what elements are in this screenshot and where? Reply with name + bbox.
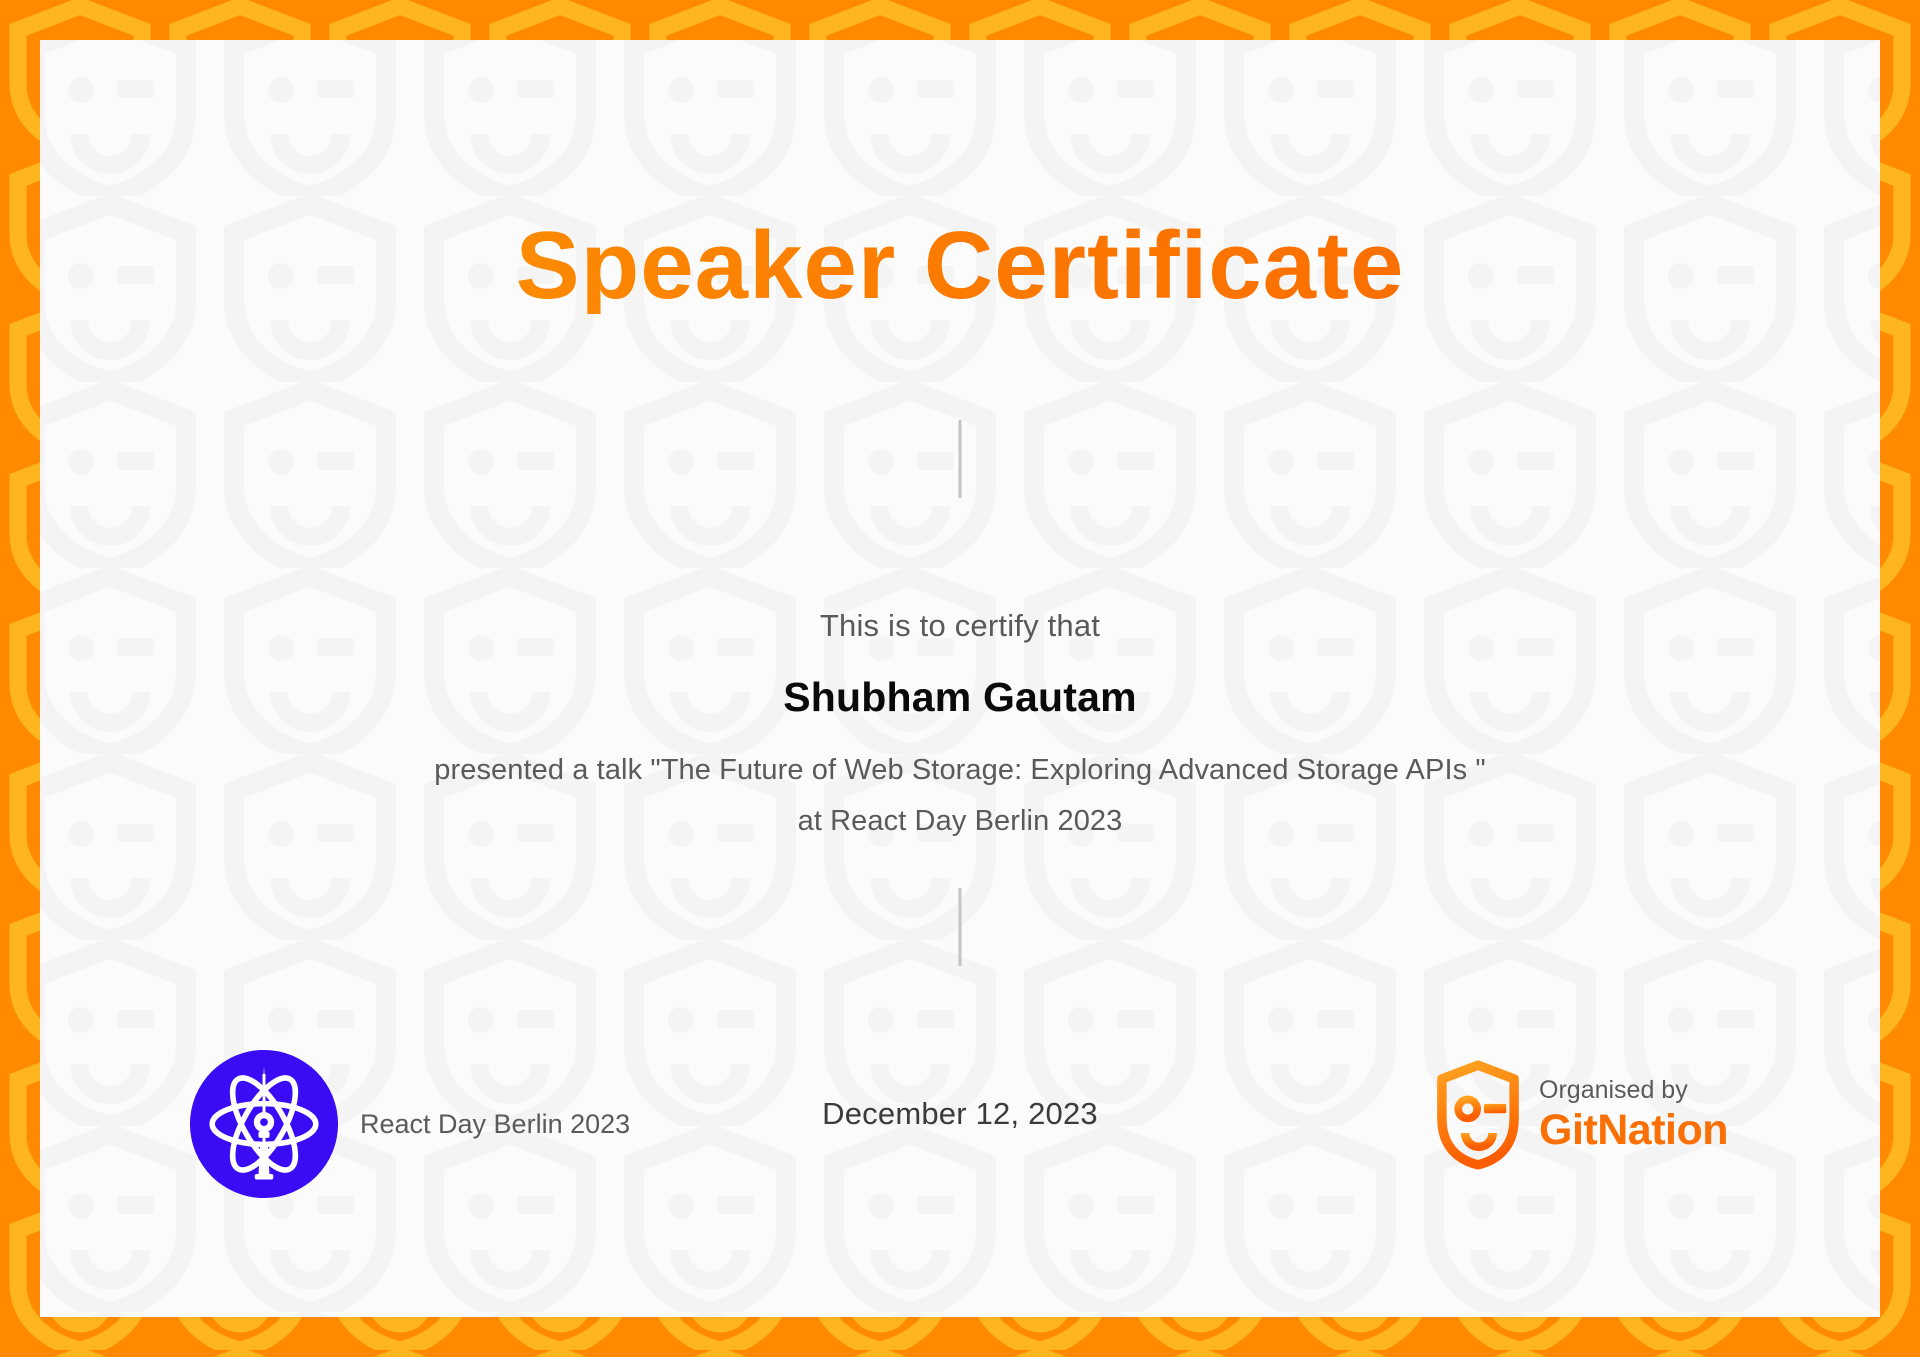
certificate-footer: React Day Berlin 2023 December 12, 2023: [40, 1040, 1880, 1220]
divider-bottom: [959, 888, 962, 966]
divider-top: [959, 420, 962, 498]
certify-statement: This is to certify that: [40, 608, 1880, 644]
organised-by-label: Organised by: [1539, 1075, 1728, 1106]
talk-event-line: at React Day Berlin 2023: [40, 796, 1880, 847]
talk-title-line: presented a talk "The Future of Web Stor…: [40, 745, 1880, 796]
certificate-frame: Speaker Certificate This is to certify t…: [0, 0, 1920, 1357]
organiser-text: Organised by GitNation: [1539, 1075, 1728, 1156]
event-block: React Day Berlin 2023: [190, 1050, 630, 1198]
recipient-name: Shubham Gautam: [40, 674, 1880, 721]
certificate-card: Speaker Certificate This is to certify t…: [40, 40, 1880, 1317]
certificate-title: Speaker Certificate: [40, 218, 1880, 314]
organiser-name: GitNation: [1539, 1106, 1728, 1155]
certificate-date: December 12, 2023: [822, 1096, 1098, 1132]
gitnation-shield-mask-icon: [1435, 1060, 1521, 1170]
talk-description: presented a talk "The Future of Web Stor…: [40, 745, 1880, 847]
event-label: React Day Berlin 2023: [360, 1109, 630, 1140]
organiser-block: Organised by GitNation: [1435, 1060, 1728, 1170]
react-day-berlin-logo-icon: [190, 1050, 338, 1198]
